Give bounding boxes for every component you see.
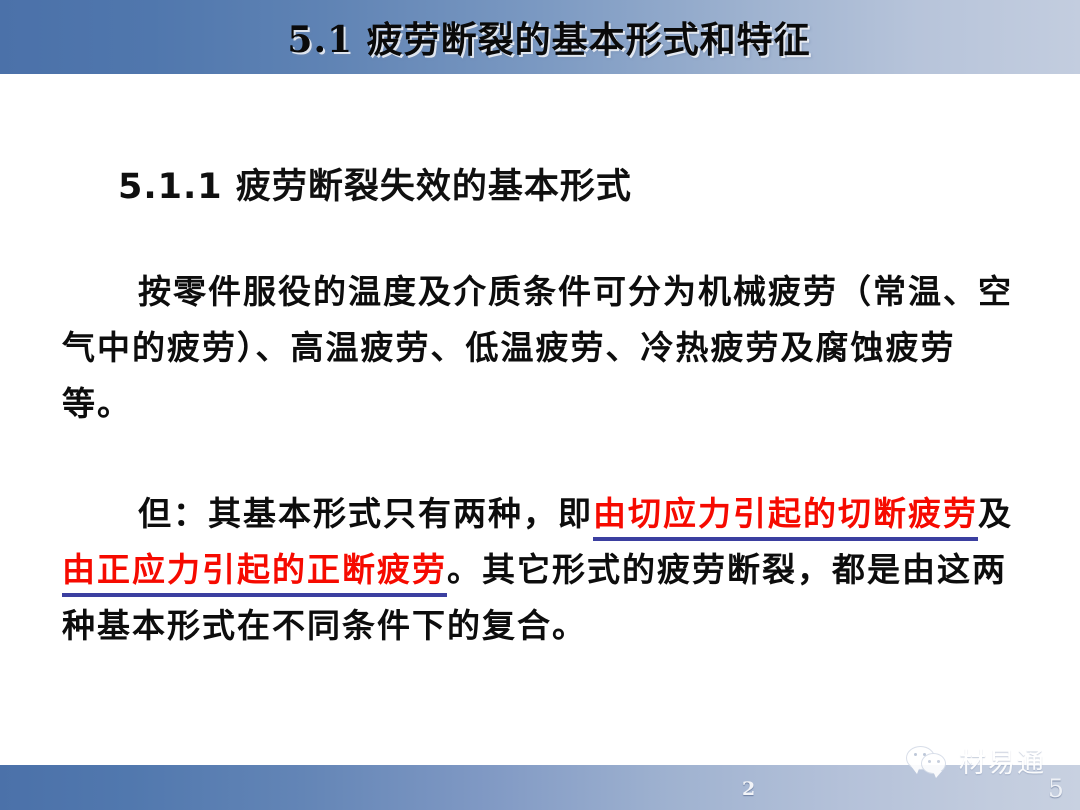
paragraph-1-text: 按零件服役的温度及介质条件可分为机械疲劳（常温、空气中的疲劳）、高温疲劳、低温疲… xyxy=(62,272,1013,423)
page-number-right: 5 xyxy=(1048,774,1064,803)
highlight-shear-fatigue: 由切应力引起的切断疲劳 xyxy=(593,494,978,541)
presentation-slide: 5.1 疲劳断裂的基本形式和特征 5.1.1 疲劳断裂失效的基本形式 按零件服役… xyxy=(0,0,1080,810)
paragraph-2-connector: 及 xyxy=(978,494,1013,533)
wechat-icon xyxy=(906,744,952,778)
wechat-dot xyxy=(914,753,917,756)
wechat-dot xyxy=(937,760,940,763)
slide-title: 5.1 疲劳断裂的基本形式和特征 xyxy=(0,0,1080,74)
wechat-dot xyxy=(923,753,926,756)
paragraph-2-lead: 但：其基本形式只有两种，即 xyxy=(138,494,593,533)
wechat-bubble-front xyxy=(921,753,946,774)
paragraph-classification: 按零件服役的温度及介质条件可分为机械疲劳（常温、空气中的疲劳）、高温疲劳、低温疲… xyxy=(62,264,1022,432)
watermark-label: 材易通 xyxy=(959,741,1046,780)
highlight-normal-fatigue: 由正应力引起的正断疲劳 xyxy=(62,550,447,597)
section-heading: 5.1.1 疲劳断裂失效的基本形式 xyxy=(118,158,632,209)
slide-header-band: 5.1 疲劳断裂的基本形式和特征 xyxy=(0,0,1080,74)
slide-body: 5.1.1 疲劳断裂失效的基本形式 按零件服役的温度及介质条件可分为机械疲劳（常… xyxy=(0,74,1080,765)
watermark: 材易通 xyxy=(906,741,1046,780)
paragraph-basic-forms: 但：其基本形式只有两种，即由切应力引起的切断疲劳及由正应力引起的正断疲劳。其它形… xyxy=(62,486,1022,654)
page-number-center: 2 xyxy=(742,778,755,800)
wechat-dot xyxy=(928,760,931,763)
